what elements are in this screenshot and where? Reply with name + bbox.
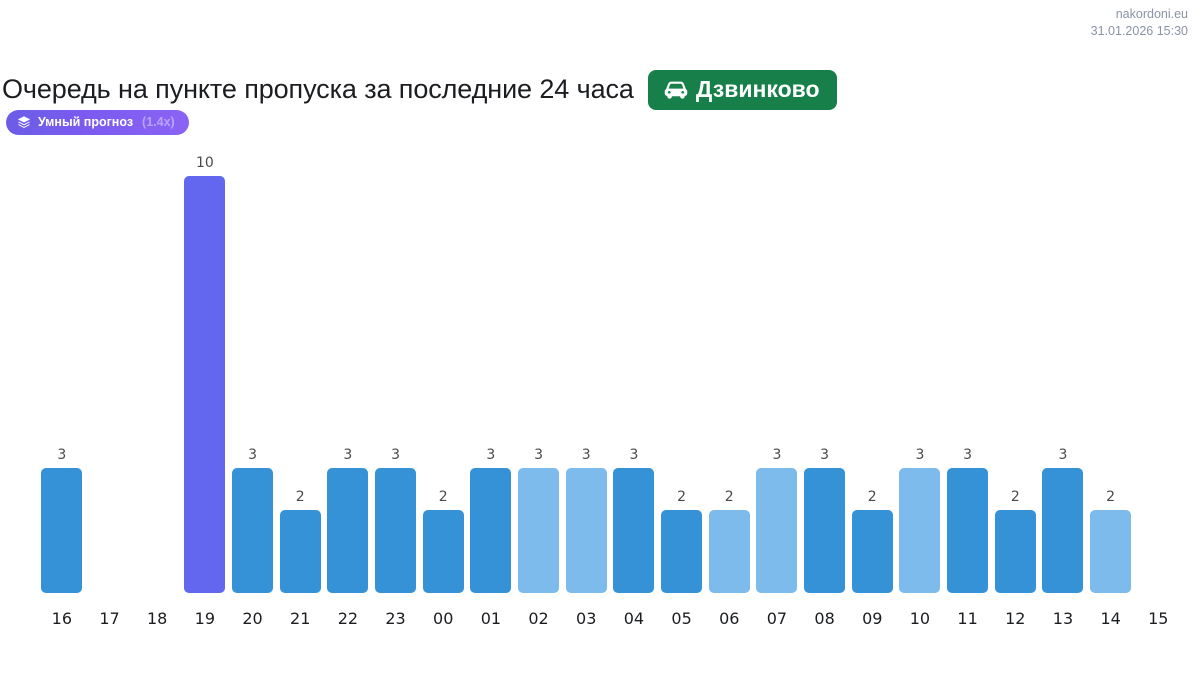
bar-00[interactable] — [423, 510, 464, 593]
bar-value-label: 3 — [534, 448, 543, 462]
bar-slot[interactable]: 3 — [753, 150, 801, 593]
bar-22[interactable] — [327, 468, 368, 593]
bar-value-label: 3 — [391, 448, 400, 462]
bar-slot[interactable]: 2 — [1087, 150, 1135, 593]
bar-value-label: 3 — [915, 448, 924, 462]
bar-value-label: 3 — [1058, 448, 1067, 462]
bar-slot[interactable]: 2 — [276, 150, 324, 593]
x-tick-11: 11 — [944, 609, 992, 628]
x-tick-09: 09 — [848, 609, 896, 628]
bar-05[interactable] — [661, 510, 702, 593]
bar-value-label: 10 — [196, 156, 214, 170]
bar-slot[interactable]: 3 — [515, 150, 563, 593]
bar-slot[interactable]: 3 — [229, 150, 277, 593]
bar-slot[interactable]: 3 — [372, 150, 420, 593]
site-name: nakordoni.eu — [1091, 6, 1188, 23]
smart-forecast-label: Умный прогноз — [38, 116, 133, 129]
bar-08[interactable] — [804, 468, 845, 593]
bar-value-label: 3 — [248, 448, 257, 462]
bar-19[interactable] — [184, 176, 225, 593]
x-tick-05: 05 — [658, 609, 706, 628]
bar-value-label: 2 — [296, 490, 305, 504]
bar-value-label: 3 — [820, 448, 829, 462]
x-tick-12: 12 — [991, 609, 1039, 628]
bar-value-label: 3 — [486, 448, 495, 462]
car-icon — [663, 80, 689, 99]
smart-forecast-badge[interactable]: Умный прогноз (1.4x) — [6, 110, 189, 135]
x-tick-19: 19 — [181, 609, 229, 628]
bar-slot[interactable] — [133, 150, 181, 593]
x-tick-22: 22 — [324, 609, 372, 628]
x-tick-02: 02 — [515, 609, 563, 628]
x-tick-00: 00 — [419, 609, 467, 628]
x-tick-18: 18 — [133, 609, 181, 628]
bar-12[interactable] — [995, 510, 1036, 593]
place-badge-label: Дзвинково — [696, 78, 820, 101]
bar-value-label: 3 — [343, 448, 352, 462]
queue-chart-page: nakordoni.eu 31.01.2026 15:30 Очередь на… — [0, 0, 1200, 684]
bar-07[interactable] — [756, 468, 797, 593]
smart-forecast-multiplier: (1.4x) — [142, 116, 175, 129]
bar-slot[interactable]: 2 — [848, 150, 896, 593]
bar-slot[interactable]: 2 — [705, 150, 753, 593]
bar-value-label: 3 — [57, 448, 66, 462]
bar-slot[interactable]: 3 — [467, 150, 515, 593]
bar-value-label: 2 — [868, 490, 877, 504]
page-title: Очередь на пункте пропуска за последние … — [2, 74, 634, 105]
bar-slot[interactable]: 3 — [896, 150, 944, 593]
bar-value-label: 3 — [963, 448, 972, 462]
x-tick-16: 16 — [38, 609, 86, 628]
bar-slot[interactable]: 3 — [610, 150, 658, 593]
x-tick-23: 23 — [372, 609, 420, 628]
timestamp: 31.01.2026 15:30 — [1091, 23, 1188, 40]
x-tick-01: 01 — [467, 609, 515, 628]
x-tick-07: 07 — [753, 609, 801, 628]
bar-slot[interactable]: 3 — [324, 150, 372, 593]
bar-value-label: 2 — [439, 490, 448, 504]
bar-04[interactable] — [613, 468, 654, 593]
bar-21[interactable] — [280, 510, 321, 593]
layers-icon — [17, 115, 31, 129]
bar-14[interactable] — [1090, 510, 1131, 593]
bar-value-label: 3 — [629, 448, 638, 462]
bar-slot[interactable] — [1134, 150, 1182, 593]
bar-02[interactable] — [518, 468, 559, 593]
bar-value-label: 2 — [725, 490, 734, 504]
bar-09[interactable] — [852, 510, 893, 593]
bar-10[interactable] — [899, 468, 940, 593]
bar-01[interactable] — [470, 468, 511, 593]
bar-slot[interactable]: 3 — [562, 150, 610, 593]
x-tick-03: 03 — [562, 609, 610, 628]
x-axis: 1617181920212223000102030405060708091011… — [38, 601, 1182, 635]
bar-value-label: 3 — [772, 448, 781, 462]
x-tick-04: 04 — [610, 609, 658, 628]
x-tick-20: 20 — [229, 609, 277, 628]
bar-slot[interactable]: 3 — [38, 150, 86, 593]
bar-slot[interactable]: 3 — [1039, 150, 1087, 593]
bar-group: 3103233233332233233232 — [38, 150, 1182, 593]
bar-slot[interactable]: 2 — [991, 150, 1039, 593]
page-meta: nakordoni.eu 31.01.2026 15:30 — [1091, 6, 1188, 40]
x-tick-08: 08 — [801, 609, 849, 628]
bar-value-label: 3 — [582, 448, 591, 462]
x-tick-14: 14 — [1087, 609, 1135, 628]
bar-23[interactable] — [375, 468, 416, 593]
bar-slot[interactable] — [86, 150, 134, 593]
x-tick-10: 10 — [896, 609, 944, 628]
x-tick-13: 13 — [1039, 609, 1087, 628]
bar-11[interactable] — [947, 468, 988, 593]
bar-16[interactable] — [41, 468, 82, 593]
chart-plot-area: 3103233233332233233232 — [38, 150, 1182, 593]
bar-value-label: 2 — [1011, 490, 1020, 504]
bar-value-label: 2 — [677, 490, 686, 504]
x-tick-15: 15 — [1134, 609, 1182, 628]
bar-slot[interactable]: 3 — [944, 150, 992, 593]
bar-13[interactable] — [1042, 468, 1083, 593]
x-tick-17: 17 — [86, 609, 134, 628]
x-tick-21: 21 — [276, 609, 324, 628]
place-badge[interactable]: Дзвинково — [648, 70, 837, 110]
bar-slot[interactable]: 2 — [419, 150, 467, 593]
bar-06[interactable] — [709, 510, 750, 593]
bar-value-label: 2 — [1106, 490, 1115, 504]
queue-bar-chart: 3103233233332233233232 16171819202122230… — [0, 150, 1200, 645]
bar-20[interactable] — [232, 468, 273, 593]
bar-slot[interactable]: 2 — [658, 150, 706, 593]
x-tick-06: 06 — [705, 609, 753, 628]
bar-slot[interactable]: 10 — [181, 150, 229, 593]
bar-slot[interactable]: 3 — [801, 150, 849, 593]
bar-03[interactable] — [566, 468, 607, 593]
